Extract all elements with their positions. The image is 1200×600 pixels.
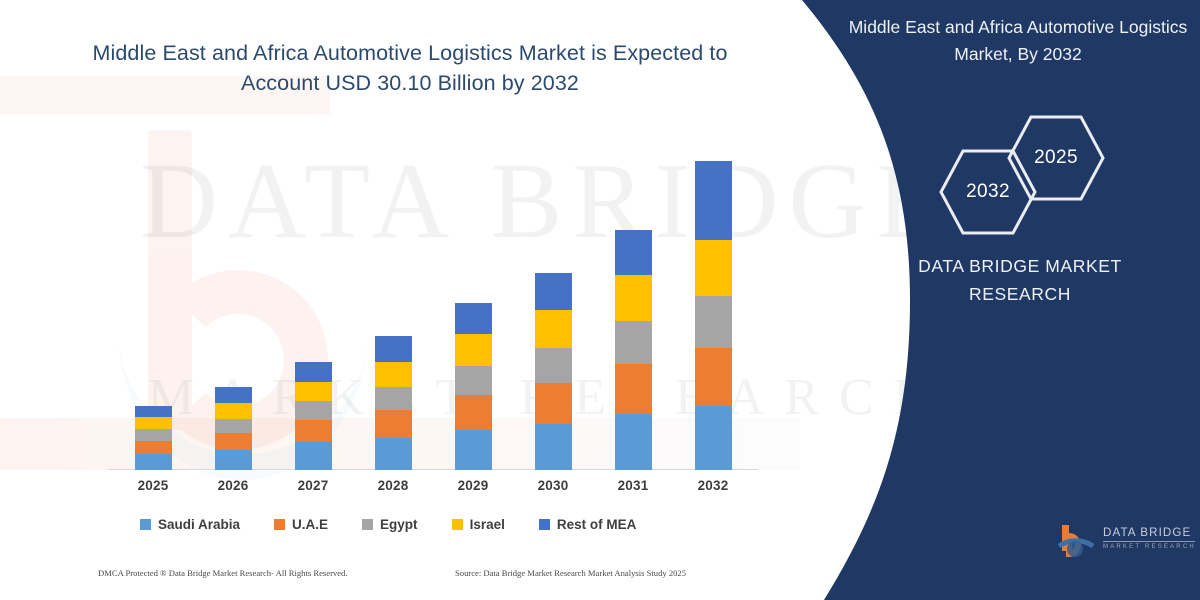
- x-axis-label: 2032: [682, 478, 744, 500]
- legend-label: Saudi Arabia: [158, 517, 240, 532]
- bar-segment: [375, 438, 412, 470]
- logo-subtitle: MARKET RESEARCH: [1103, 544, 1195, 550]
- legend-item: Egypt: [362, 517, 418, 532]
- bar-segment: [375, 362, 412, 387]
- bar-segment: [135, 406, 172, 417]
- bar-segment: [535, 273, 572, 310]
- legend-swatch-icon: [140, 519, 151, 530]
- chart-plot-area: [108, 145, 758, 470]
- bar-segment: [455, 303, 492, 334]
- data-bridge-logo-text: DATA BRIDGE MARKET RESEARCH: [1103, 526, 1195, 550]
- x-axis-label: 2027: [282, 478, 344, 500]
- hexagon-2025: 2025: [1006, 114, 1106, 202]
- legend-item: Israel: [452, 517, 505, 532]
- stacked-bar: [375, 336, 412, 470]
- bar-column: [202, 145, 264, 470]
- bar-segment: [135, 429, 172, 441]
- legend-swatch-icon: [362, 519, 373, 530]
- legend-item: Rest of MEA: [539, 517, 637, 532]
- logo-name: DATA BRIDGE: [1103, 526, 1195, 539]
- bar-segment: [615, 364, 652, 414]
- bar-segment: [695, 161, 732, 240]
- bar-segment: [535, 310, 572, 348]
- bar-column: [602, 145, 664, 470]
- panel-brand-text: DATA BRIDGE MARKET RESEARCH: [870, 252, 1170, 308]
- legend-item: U.A.E: [274, 517, 328, 532]
- legend-swatch-icon: [452, 519, 463, 530]
- bar-segment: [295, 362, 332, 382]
- bar-segment: [375, 336, 412, 362]
- footer-source: Source: Data Bridge Market Research Mark…: [455, 568, 686, 578]
- legend-label: U.A.E: [292, 517, 328, 532]
- bar-segment: [135, 441, 172, 454]
- bar-column: [682, 145, 744, 470]
- bar-segment: [215, 403, 252, 419]
- x-axis-label: 2030: [522, 478, 584, 500]
- bar-segment: [215, 419, 252, 433]
- bar-segment: [535, 424, 572, 470]
- stacked-bar: [135, 406, 172, 470]
- bar-column: [282, 145, 344, 470]
- stacked-bar: [295, 362, 332, 470]
- bar-segment: [695, 406, 732, 470]
- bar-chart: [108, 140, 758, 470]
- bar-segment: [615, 230, 652, 275]
- bar-segment: [455, 366, 492, 395]
- legend-label: Egypt: [380, 517, 418, 532]
- stacked-bar: [535, 273, 572, 470]
- bar-segment: [615, 275, 652, 321]
- hexagon-2032-label: 2032: [966, 181, 1010, 203]
- stacked-bar: [615, 230, 652, 470]
- bar-segment: [295, 401, 332, 420]
- legend-swatch-icon: [539, 519, 550, 530]
- navy-panel-content: Middle East and Africa Automotive Logist…: [760, 0, 1200, 600]
- bar-segment: [455, 395, 492, 430]
- data-bridge-logo: DATA BRIDGE MARKET RESEARCH: [1057, 518, 1192, 566]
- bar-segment: [375, 410, 412, 438]
- bar-column: [362, 145, 424, 470]
- bar-segment: [615, 321, 652, 364]
- chart-legend: Saudi ArabiaU.A.EEgyptIsraelRest of MEA: [140, 512, 760, 536]
- logo-divider: [1103, 541, 1195, 542]
- bar-segment: [455, 430, 492, 470]
- x-axis-label: 2031: [602, 478, 664, 500]
- infographic-canvas: DATA BRIDGE MARKET RESEARCH Middle East …: [0, 0, 1200, 600]
- bar-segment: [295, 382, 332, 401]
- bar-segment: [455, 334, 492, 366]
- legend-item: Saudi Arabia: [140, 517, 240, 532]
- x-axis-label: 2026: [202, 478, 264, 500]
- bar-segment: [135, 417, 172, 429]
- chart-title: Middle East and Africa Automotive Logist…: [60, 38, 760, 98]
- stacked-bar: [695, 161, 732, 470]
- x-axis-label: 2029: [442, 478, 504, 500]
- bar-segment: [535, 348, 572, 383]
- stacked-bar: [455, 303, 492, 470]
- bar-segment: [215, 387, 252, 403]
- bar-column: [522, 145, 584, 470]
- legend-swatch-icon: [274, 519, 285, 530]
- bar-segment: [375, 387, 412, 410]
- panel-title: Middle East and Africa Automotive Logist…: [848, 14, 1188, 68]
- bar-segment: [295, 420, 332, 442]
- bar-segment: [295, 442, 332, 470]
- footer-copyright: DMCA Protected ® Data Bridge Market Rese…: [98, 568, 348, 578]
- x-axis-label: 2028: [362, 478, 424, 500]
- hexagon-2025-label: 2025: [1034, 147, 1078, 169]
- bar-segment: [215, 433, 252, 450]
- bar-segment: [215, 450, 252, 470]
- bar-segment: [695, 296, 732, 348]
- hexagon-group: 2032 2025: [920, 118, 1140, 228]
- bar-segment: [695, 348, 732, 406]
- legend-label: Israel: [470, 517, 505, 532]
- data-bridge-b-icon: [1057, 522, 1097, 562]
- stacked-bar: [215, 387, 252, 470]
- bar-segment: [695, 240, 732, 296]
- bar-segment: [615, 414, 652, 470]
- bar-column: [122, 145, 184, 470]
- bar-segment: [535, 383, 572, 424]
- bar-segment: [135, 454, 172, 470]
- x-axis-label: 2025: [122, 478, 184, 500]
- legend-label: Rest of MEA: [557, 517, 637, 532]
- bar-column: [442, 145, 504, 470]
- x-axis-labels: 20252026202720282029203020312032: [108, 478, 758, 500]
